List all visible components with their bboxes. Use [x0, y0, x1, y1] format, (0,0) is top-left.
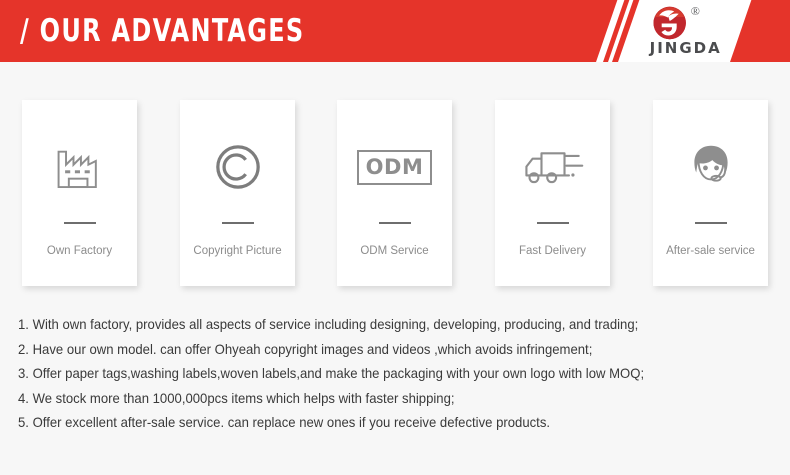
copyright-icon [180, 136, 295, 198]
advantage-card-fast-delivery[interactable]: Fast Delivery [495, 100, 610, 286]
registered-trademark-icon: ® [691, 5, 700, 17]
advantage-card-label: After-sale service [653, 244, 768, 258]
odm-box-text: ODM [357, 150, 433, 185]
page-title: / OUR ADVANTAGES [20, 11, 304, 51]
advantage-card-label: Copyright Picture [180, 244, 295, 258]
logo-wordmark: JINGDA [641, 40, 731, 56]
jingda-eagle-logo-icon [653, 6, 687, 40]
logo-panel: ® JINGDA [613, 0, 756, 62]
card-divider [379, 222, 411, 224]
list-item: 2. Have our own model. can offer Ohyeah … [18, 338, 751, 363]
odm-box-icon: ODM [337, 136, 452, 198]
page-header: / OUR ADVANTAGES ® JINGDA [0, 0, 790, 62]
list-item: 4. We stock more than 1000,000pcs items … [18, 387, 751, 412]
card-divider [64, 222, 96, 224]
advantage-description-list: 1. With own factory, provides all aspect… [18, 313, 778, 436]
card-divider [695, 222, 727, 224]
advantage-card-odm-service[interactable]: ODM ODM Service [337, 100, 452, 286]
advantage-cards: Own Factory Copyright Picture ODM ODM Se… [0, 100, 790, 286]
list-item: 1. With own factory, provides all aspect… [18, 313, 751, 338]
advantage-card-label: Fast Delivery [495, 244, 610, 258]
advantage-card-after-sale-service[interactable]: After-sale service [653, 100, 768, 286]
delivery-truck-icon [495, 136, 610, 198]
advantage-card-label: ODM Service [337, 244, 452, 258]
list-item: 3. Offer paper tags,washing labels,woven… [18, 362, 751, 387]
logo-inner: ® JINGDA [629, 0, 741, 62]
advantage-card-copyright-picture[interactable]: Copyright Picture [180, 100, 295, 286]
factory-icon [22, 136, 137, 198]
advantage-card-own-factory[interactable]: Own Factory [22, 100, 137, 286]
headset-agent-icon [653, 136, 768, 198]
card-divider [537, 222, 569, 224]
card-divider [222, 222, 254, 224]
advantage-card-label: Own Factory [22, 244, 137, 258]
list-item: 5. Offer excellent after-sale service. c… [18, 411, 751, 436]
